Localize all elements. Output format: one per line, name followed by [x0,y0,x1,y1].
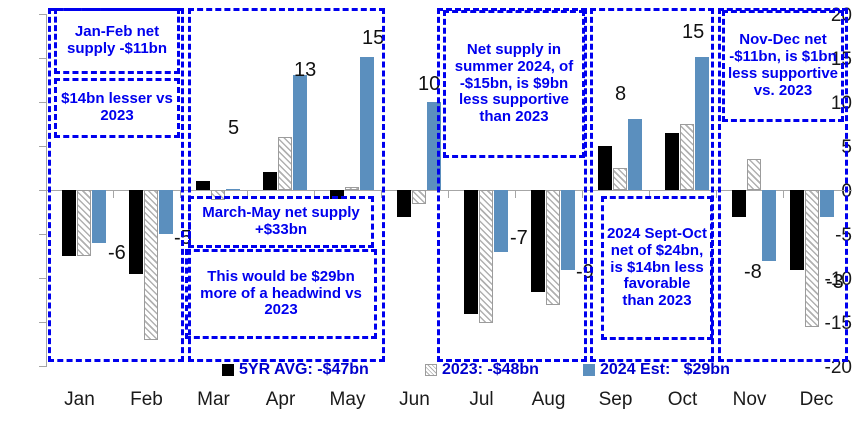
y-tick-mark [39,322,46,323]
y-tick-mark [39,102,46,103]
x-axis-label-may: May [314,390,381,409]
legend-swatch-5yr-avg-icon [222,364,234,376]
annotation-jan-feb-lesser-text: $14bn lesser vs 2023 [57,91,177,125]
annotation-march-may-headwind-text: This would be $29bn more of a headwind v… [188,269,374,319]
annotation-sept-oct-net: 2024 Sept-Oct net of $24bn, is $14bn les… [601,196,713,340]
legend-item-5yr-avg[interactable]: 5YR AVG: -$47bn [222,357,369,383]
x-tick-mark [716,191,717,198]
legend-label-2024-est: 2024 Est: $29bn [600,361,730,379]
x-axis-label-aug: Aug [515,390,582,409]
annotation-sept-oct-net-text: 2024 Sept-Oct net of $24bn, is $14bn les… [604,226,710,310]
y-tick-mark [39,14,46,15]
y-tick-mark [39,278,46,279]
annotation-march-may-headwind: This would be $29bn more of a headwind v… [185,249,377,339]
bar-chart: 20 15 10 5 0 -5 -10 -15 -20 -6 -5 5 [0,0,852,424]
annotation-jan-feb-lesser: $14bn lesser vs 2023 [54,78,180,138]
legend-item-2023[interactable]: 2023: -$48bn [425,357,539,383]
annotation-nov-dec-net: Nov-Dec net -$11bn, is $1bn less support… [722,10,844,122]
x-axis-label-feb: Feb [113,390,180,409]
annotation-summer-net: Net supply in summer 2024, of -$15bn, is… [443,10,585,158]
x-axis-label-dec: Dec [783,390,850,409]
annotation-march-may-net: March-May net supply +$33bn [188,196,374,248]
legend-item-2024-est[interactable]: 2024 Est: $29bn [583,357,730,383]
legend-label-2023: 2023: -$48bn [442,361,539,379]
y-tick-mark [39,234,46,235]
x-axis-label-apr: Apr [247,390,314,409]
y-tick-mark [39,146,46,147]
legend-swatch-2024-est-icon [583,364,595,376]
x-axis-label-jun: Jun [381,390,448,409]
annotation-jan-feb-net-text: Jan-Feb net supply -$11bn [57,24,177,58]
chart-legend: 5YR AVG: -$47bn 2023: -$48bn 2024 Est: $… [0,357,852,383]
y-tick-mark [39,190,46,191]
legend-label-5yr-avg: 5YR AVG: -$47bn [239,361,369,379]
y-tick-mark [39,58,46,59]
annotation-jan-feb-net: Jan-Feb net supply -$11bn [54,8,180,74]
legend-swatch-2023-icon [425,364,437,376]
x-axis-label-mar: Mar [180,390,247,409]
x-axis-label-jul: Jul [448,390,515,409]
bar-jun-5yr-avg [397,190,411,217]
annotation-nov-dec-net-text: Nov-Dec net -$11bn, is $1bn less support… [725,32,841,99]
x-axis-label-sep: Sep [582,390,649,409]
x-axis-label-oct: Oct [649,390,716,409]
bar-jun-2023 [412,190,426,204]
x-axis-label-nov: Nov [716,390,783,409]
x-axis-label-jan: Jan [46,390,113,409]
annotation-summer-net-text: Net supply in summer 2024, of -$15bn, is… [446,42,582,126]
annotation-march-may-net-text: March-May net supply +$33bn [191,205,371,239]
